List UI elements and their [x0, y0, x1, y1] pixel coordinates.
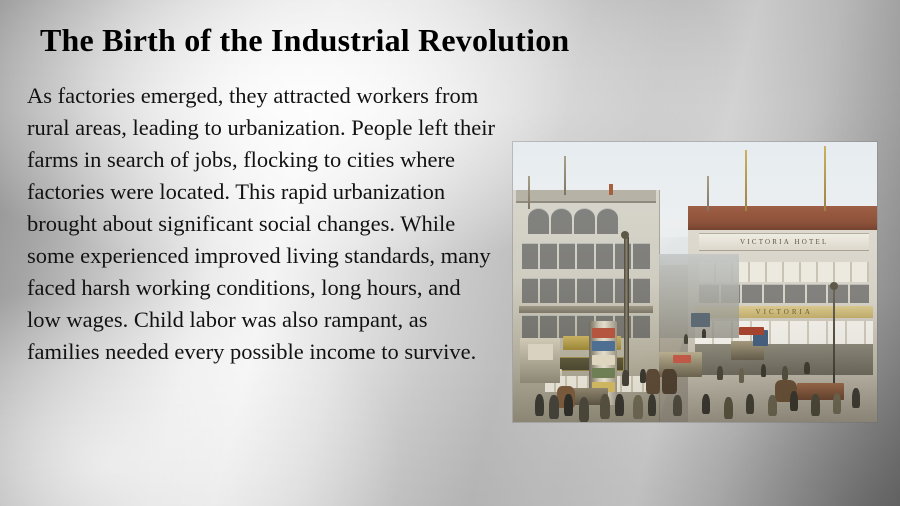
photo-pedestrian: [717, 366, 723, 380]
photo-left-windows-row-3: [522, 315, 650, 338]
photo-column-poster-blue: [592, 341, 615, 351]
historical-street-photograph: VICTORIA HOTEL VICTORIA: [513, 142, 877, 422]
photo-hotel-spire-right: [824, 146, 826, 211]
photo-pedestrian: [833, 393, 841, 414]
photo-pedestrian: [804, 362, 809, 375]
photo-kiosk-poster: [528, 344, 553, 361]
photo-carriage-placard: [673, 355, 691, 363]
photo-pedestrian: [579, 397, 589, 422]
photo-hotel-roof: [688, 206, 877, 230]
slide-body-text: As factories emerged, they attracted wor…: [27, 80, 497, 368]
photo-left-balcony: [519, 306, 653, 313]
photo-pedestrian: [702, 329, 706, 338]
photo-pedestrian: [673, 395, 682, 416]
slide-title: The Birth of the Industrial Revolution: [40, 22, 569, 59]
photo-pedestrian: [633, 395, 642, 419]
photo-hotel-name-text: VICTORIA HOTEL: [740, 238, 828, 246]
photo-pedestrian: [746, 394, 754, 414]
photo-pedestrian: [564, 394, 573, 416]
photo-pedestrian: [739, 368, 745, 383]
photo-pedestrian: [640, 369, 646, 383]
photo-pedestrian: [600, 394, 609, 419]
photo-building-left-cornice: [516, 190, 656, 204]
photo-column-poster-cream: [592, 355, 615, 365]
photo-pedestrian: [549, 395, 558, 419]
photo-pedestrian: [535, 394, 544, 416]
photo-horse-center-left: [646, 369, 661, 394]
photo-pedestrian: [622, 370, 629, 385]
photo-column-poster-red: [592, 328, 615, 338]
photo-hotel-spire-left: [745, 150, 747, 210]
photo-hotel-mast: [707, 176, 709, 210]
photo-pedestrian: [702, 394, 710, 414]
photo-horse-center-right: [662, 369, 677, 394]
photo-pedestrian: [782, 366, 788, 380]
photo-left-mast-thin: [528, 176, 530, 210]
photo-pedestrian: [852, 388, 860, 408]
photo-left-windows-row-1: [522, 243, 650, 269]
photo-street-lamp-right: [833, 288, 835, 389]
photo-pedestrian: [761, 364, 766, 377]
photo-pedestrian: [768, 395, 777, 416]
photo-street-lamp-center: [624, 237, 629, 383]
photo-column-poster-green: [592, 368, 615, 378]
presentation-slide: The Birth of the Industrial Revolution A…: [0, 0, 900, 506]
photo-left-windows-row-2: [522, 278, 650, 304]
photo-chimney: [609, 184, 613, 195]
photo-pedestrian: [724, 397, 733, 419]
photo-tram-distant: [691, 313, 709, 327]
photo-red-awning-right: [739, 327, 764, 335]
photo-hotel-name-band: VICTORIA HOTEL: [699, 233, 869, 251]
photo-pedestrian: [811, 394, 820, 416]
photo-building-left: [513, 190, 660, 422]
photo-pedestrian: [790, 391, 798, 411]
photo-pedestrian: [615, 394, 624, 416]
photo-pedestrian: [648, 394, 657, 416]
photo-left-flagpole: [564, 156, 566, 195]
photo-victoria-band-text: VICTORIA: [756, 308, 813, 316]
photo-left-arched-windows: [528, 208, 618, 234]
